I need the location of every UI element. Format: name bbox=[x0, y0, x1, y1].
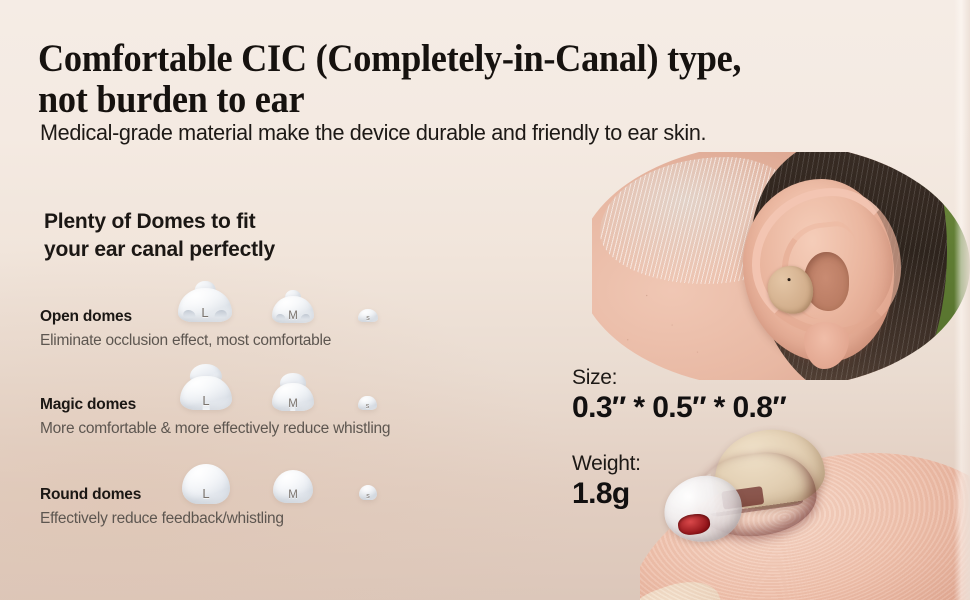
dome-row-description: More comfortable & more effectively redu… bbox=[40, 420, 390, 438]
page-title: Comfortable CIC (Completely-in-Canal) ty… bbox=[38, 38, 810, 121]
dome-graphic-open-large: L bbox=[178, 288, 232, 322]
dome-size-label: s bbox=[359, 493, 377, 500]
weight-label: Weight: bbox=[572, 452, 641, 476]
weight-spec: Weight: 1.8g bbox=[572, 452, 641, 511]
weight-value: 1.8g bbox=[572, 477, 641, 511]
dome-size-label: s bbox=[358, 315, 378, 322]
infographic-canvas: Comfortable CIC (Completely-in-Canal) ty… bbox=[0, 0, 970, 600]
dome-row-title: Magic domes bbox=[40, 396, 136, 414]
dome-size-label: M bbox=[272, 398, 314, 410]
ear-photo-mask bbox=[592, 152, 970, 380]
dome-size-label: M bbox=[272, 310, 314, 322]
dome-row-title: Open domes bbox=[40, 308, 132, 326]
dome-graphic-magic-medium: M bbox=[272, 383, 314, 411]
dome-graphic-magic-small: s bbox=[358, 396, 377, 410]
hearing-aid-device bbox=[670, 432, 830, 544]
device-microphone-port-icon bbox=[787, 278, 791, 281]
device-receiver bbox=[677, 512, 711, 536]
size-value: 0.3″ * 0.5″ * 0.8″ bbox=[572, 391, 786, 425]
dome-size-label: L bbox=[180, 393, 232, 408]
dome-row-description: Eliminate occlusion effect, most comfort… bbox=[40, 332, 331, 350]
dome-graphic-round-medium: M bbox=[273, 470, 313, 503]
page-subtitle: Medical-grade material make the device d… bbox=[40, 120, 866, 146]
dome-row-description: Effectively reduce feedback/whistling bbox=[40, 510, 284, 528]
dome-graphic-open-medium: M bbox=[272, 296, 314, 323]
size-label: Size: bbox=[572, 366, 786, 390]
domes-section-heading: Plenty of Domes to fit your ear canal pe… bbox=[44, 208, 464, 264]
ear-with-hearing-aid-photo bbox=[592, 152, 970, 380]
dome-graphic-magic-large: L bbox=[180, 376, 232, 410]
dome-graphic-round-large: L bbox=[182, 464, 230, 504]
fingernail bbox=[640, 572, 730, 600]
dome-size-label: L bbox=[178, 305, 232, 320]
dome-size-label: L bbox=[182, 486, 230, 501]
dome-graphic-open-small: s bbox=[358, 309, 378, 322]
hearing-aid-on-fingertip-photo bbox=[640, 418, 970, 600]
dome-row-title: Round domes bbox=[40, 486, 141, 504]
size-spec: Size: 0.3″ * 0.5″ * 0.8″ bbox=[572, 366, 786, 425]
dome-size-label: s bbox=[358, 403, 377, 410]
dome-graphic-round-small: s bbox=[359, 485, 377, 500]
panel-right-edge bbox=[954, 0, 970, 600]
dome-size-label: M bbox=[273, 489, 313, 501]
